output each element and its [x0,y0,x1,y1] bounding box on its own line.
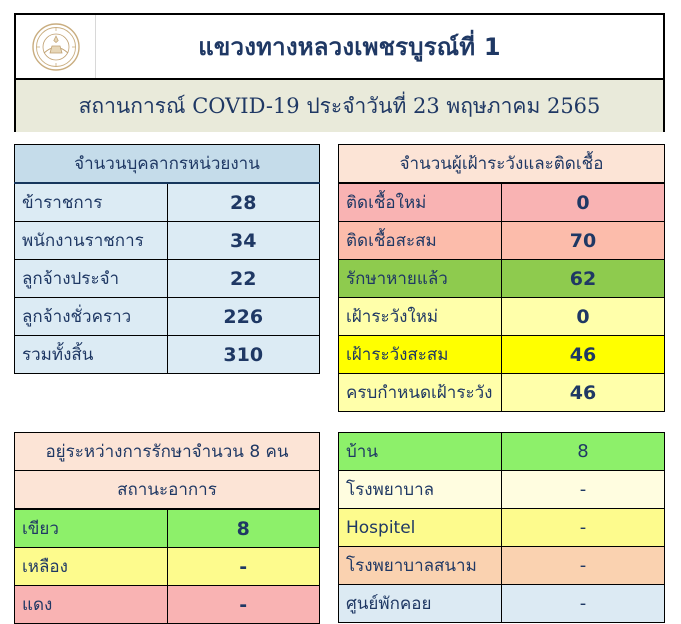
row-value-civil-servant: 28 [167,183,320,222]
row-value-recovered: 62 [502,260,665,298]
table-header-row: อยู่ระหว่างการรักษาจำนวน 8 คน [15,433,320,471]
row-label-completed-surveillance: ครบกำหนดเฝ้าระวัง [339,374,502,412]
row-label-cumulative-surveillance: เฝ้าระวังสะสม [339,336,502,374]
row-label-red-status: แดง [15,586,168,624]
surveillance-infection-table: จำนวนผู้เฝ้าระวังและติดเชื้อ ติดเชื้อใหม… [338,144,665,412]
row-label-green-status: เขียว [15,509,168,548]
table-row: โรงพยาบาลสนาม - [339,547,665,585]
row-value-government-employee: 34 [167,222,320,260]
row-label-cumulative-infection: ติดเชื้อสะสม [339,222,502,260]
table-row: ติดเชื้อใหม่ 0 [339,183,665,222]
row-label-hospital: โรงพยาบาล [339,471,502,509]
table-row: ศูนย์พักคอย - [339,585,665,623]
header-subtitle-band: สถานการณ์ COVID-19 ประจำวันที่ 23 พฤษภาค… [16,80,663,132]
department-of-highways-seal-icon [31,22,81,72]
table-row: ลูกจ้างชั่วคราว 226 [15,298,320,336]
row-label-field-hospital: โรงพยาบาลสนาม [339,547,502,585]
row-value-hospitel: - [502,509,665,547]
treatment-location-table: บ้าน 8 โรงพยาบาล - Hospitel - โรงพยาบาลส… [338,432,665,623]
table-row: ลูกจ้างประจำ 22 [15,260,320,298]
symptom-status-header: สถานะอาการ [15,471,320,510]
org-title-cell: แขวงทางหลวงเพชรบูรณ์ที่ 1 [96,15,663,78]
row-label-total: รวมทั้งสิ้น [15,336,168,374]
table-row: เขียว 8 [15,509,320,548]
row-value-hospital: - [502,471,665,509]
table-row: รักษาหายแล้ว 62 [339,260,665,298]
table-row: พนักงานราชการ 34 [15,222,320,260]
header-title-row: แขวงทางหลวงเพชรบูรณ์ที่ 1 [16,15,663,80]
surveillance-table-header: จำนวนผู้เฝ้าระวังและติดเชื้อ [339,145,665,184]
table-row: เฝ้าระวังใหม่ 0 [339,298,665,336]
staff-count-table: จำนวนบุคลากรหน่วยงาน ข้าราชการ 28 พนักงา… [14,144,320,374]
table-row: รวมทั้งสิ้น 310 [15,336,320,374]
row-value-total: 310 [167,336,320,374]
row-label-recovered: รักษาหายแล้ว [339,260,502,298]
row-label-new-infection: ติดเชื้อใหม่ [339,183,502,222]
row-label-temporary-worker: ลูกจ้างชั่วคราว [15,298,168,336]
row-label-civil-servant: ข้าราชการ [15,183,168,222]
row-label-permanent-worker: ลูกจ้างประจำ [15,260,168,298]
page-header: แขวงทางหลวงเพชรบูรณ์ที่ 1 สถานการณ์ COVI… [14,13,665,132]
report-date-subtitle: สถานการณ์ COVID-19 ประจำวันที่ 23 พฤษภาค… [79,90,601,123]
row-value-green-status: 8 [167,509,320,548]
table-row: บ้าน 8 [339,433,665,471]
row-value-permanent-worker: 22 [167,260,320,298]
row-value-new-surveillance: 0 [502,298,665,336]
table-row: เฝ้าระวังสะสม 46 [339,336,665,374]
row-value-field-hospital: - [502,547,665,585]
table-row: ครบกำหนดเฝ้าระวัง 46 [339,374,665,412]
row-label-waiting-center: ศูนย์พักคอย [339,585,502,623]
table-row: ข้าราชการ 28 [15,183,320,222]
table-header-row: จำนวนผู้เฝ้าระวังและติดเชื้อ [339,145,665,184]
row-label-home: บ้าน [339,433,502,471]
row-value-home: 8 [502,433,665,471]
table-row: Hospitel - [339,509,665,547]
row-value-waiting-center: - [502,585,665,623]
page-title: แขวงทางหลวงเพชรบูรณ์ที่ 1 [198,27,500,66]
table-row: โรงพยาบาล - [339,471,665,509]
row-label-yellow-status: เหลือง [15,548,168,586]
row-value-red-status: - [167,586,320,624]
row-label-government-employee: พนักงานราชการ [15,222,168,260]
treatment-status-table: อยู่ระหว่างการรักษาจำนวน 8 คน สถานะอาการ… [14,432,320,624]
row-label-hospitel: Hospitel [339,509,502,547]
table-header-row: สถานะอาการ [15,471,320,510]
table-row: ติดเชื้อสะสม 70 [339,222,665,260]
table-header-row: จำนวนบุคลากรหน่วยงาน [15,145,320,184]
table-row: เหลือง - [15,548,320,586]
logo-cell [16,15,96,78]
under-treatment-header: อยู่ระหว่างการรักษาจำนวน 8 คน [15,433,320,471]
row-value-temporary-worker: 226 [167,298,320,336]
row-label-new-surveillance: เฝ้าระวังใหม่ [339,298,502,336]
row-value-completed-surveillance: 46 [502,374,665,412]
row-value-new-infection: 0 [502,183,665,222]
table-row: แดง - [15,586,320,624]
row-value-yellow-status: - [167,548,320,586]
row-value-cumulative-surveillance: 46 [502,336,665,374]
staff-table-header: จำนวนบุคลากรหน่วยงาน [15,145,320,184]
row-value-cumulative-infection: 70 [502,222,665,260]
